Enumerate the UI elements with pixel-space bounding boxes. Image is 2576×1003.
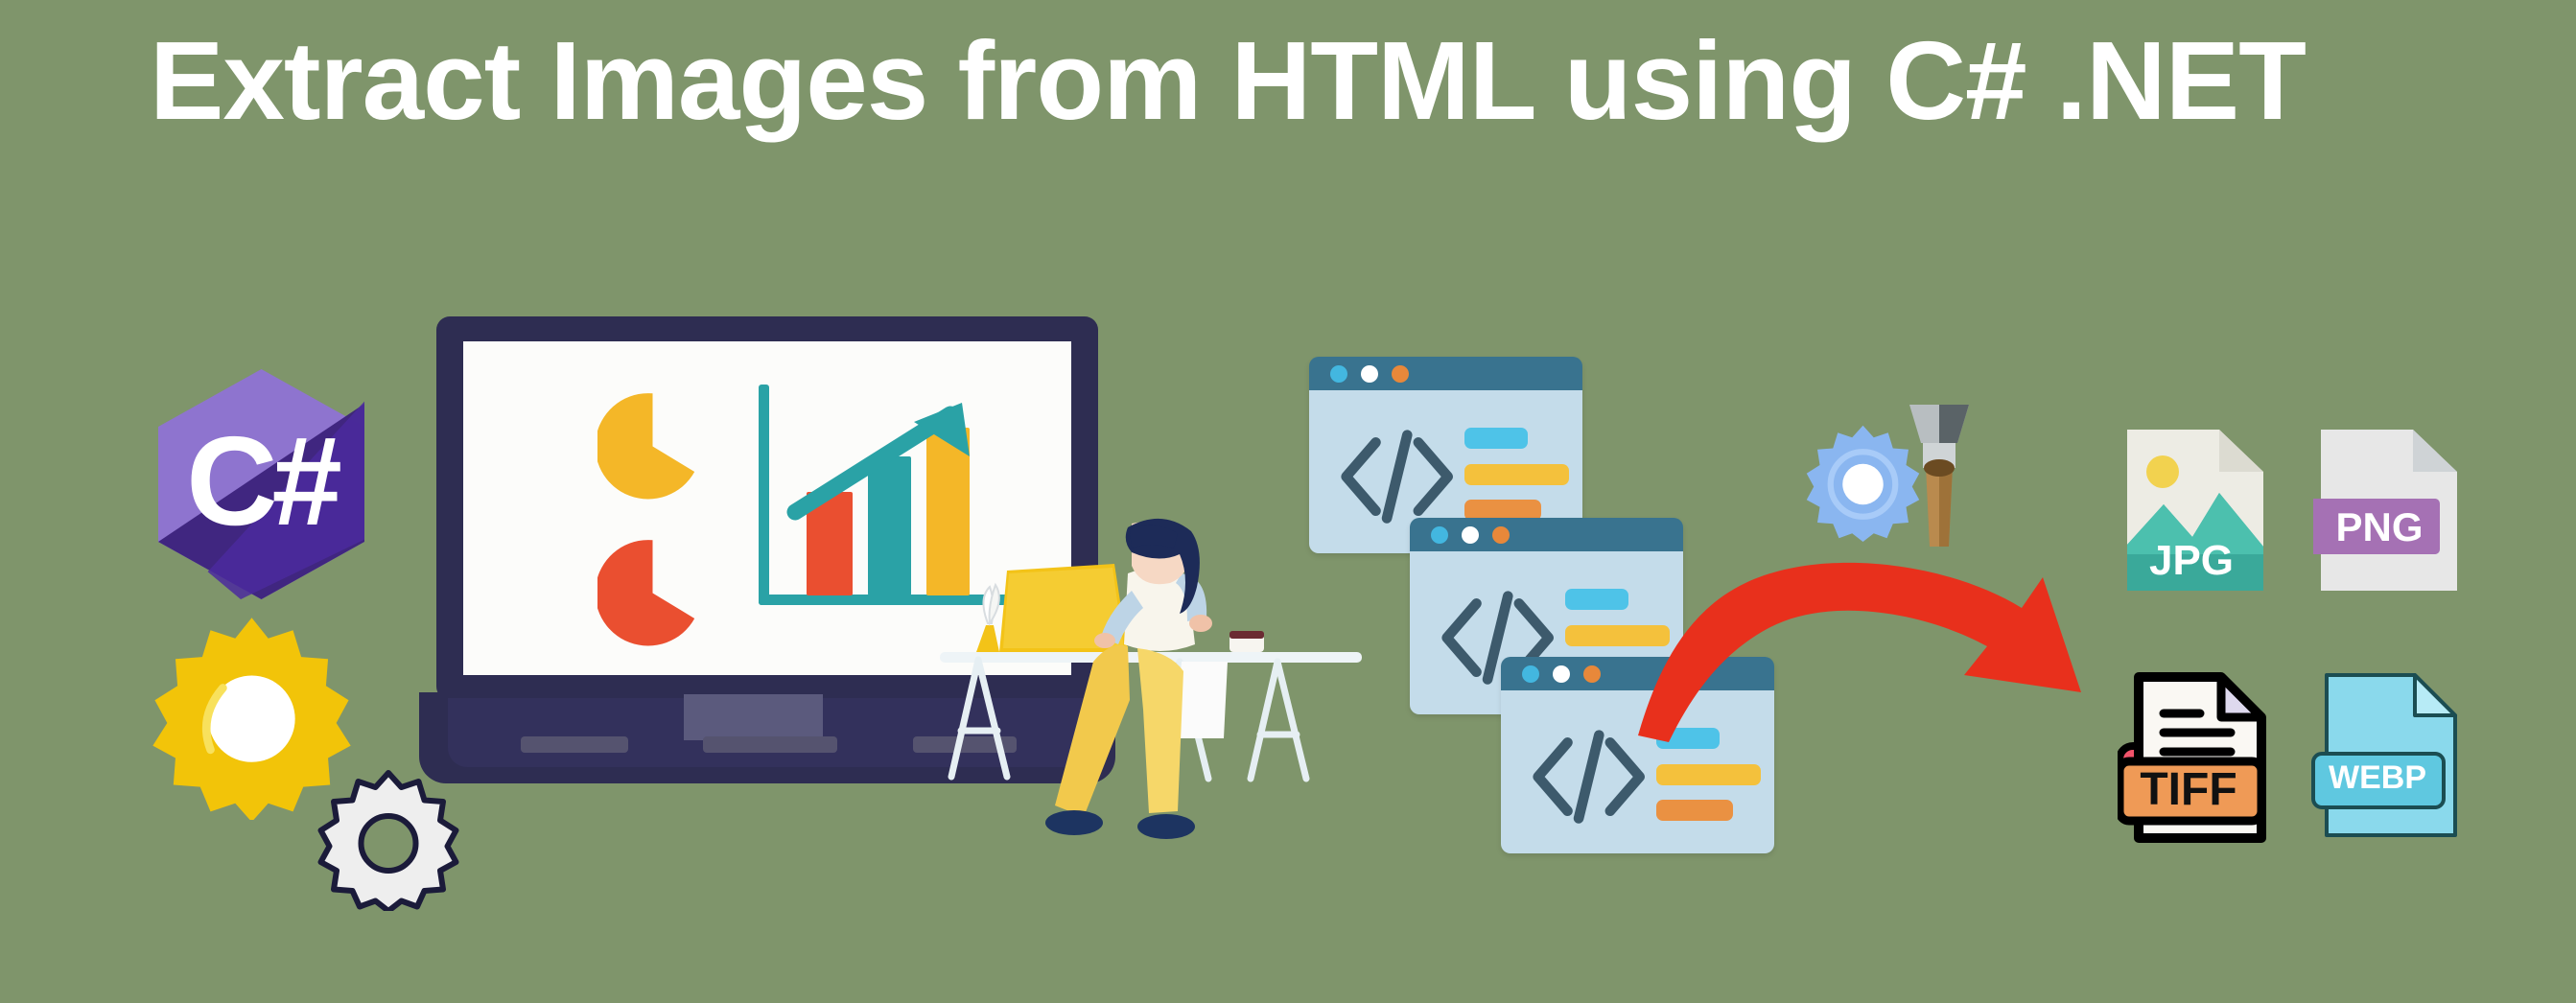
webp-file-label: WEBP bbox=[2313, 759, 2442, 797]
white-gear-icon bbox=[316, 767, 460, 911]
chart-y-axis bbox=[759, 385, 769, 605]
code-line-cyan bbox=[1565, 589, 1628, 610]
jpg-file-label: JPG bbox=[2119, 537, 2263, 585]
laptop-slot bbox=[703, 736, 837, 753]
window-dot-orange-icon bbox=[1392, 365, 1409, 383]
red-curved-arrow-icon bbox=[1630, 539, 2167, 745]
window-dot-white-icon bbox=[1361, 365, 1378, 383]
csharp-logo: C# bbox=[158, 369, 364, 599]
window-dot-white-icon bbox=[1553, 665, 1570, 683]
code-tag-icon bbox=[1337, 426, 1457, 510]
window-dot-orange-icon bbox=[1492, 526, 1510, 544]
illustration-canvas: Extract Images from HTML using C# .NET C… bbox=[0, 0, 2576, 1003]
code-line-yellow bbox=[1656, 764, 1760, 785]
window-dot-cyan-icon bbox=[1431, 526, 1448, 544]
code-line-yellow bbox=[1464, 464, 1568, 485]
woman-at-desk-illustration bbox=[940, 518, 1381, 921]
window-dot-orange-icon bbox=[1583, 665, 1601, 683]
page-title: Extract Images from HTML using C# .NET bbox=[0, 21, 2455, 140]
webp-file-icon[interactable]: WEBP bbox=[2311, 671, 2460, 839]
window-dot-cyan-icon bbox=[1522, 665, 1539, 683]
window-dot-cyan-icon bbox=[1330, 365, 1347, 383]
window-dot-white-icon bbox=[1462, 526, 1479, 544]
pie-chart-red bbox=[597, 538, 708, 648]
laptop-slot bbox=[521, 736, 628, 753]
code-window-titlebar bbox=[1309, 357, 1582, 390]
code-line-cyan bbox=[1464, 428, 1528, 449]
csharp-logo-label: C# bbox=[158, 369, 364, 599]
pie-chart-yellow bbox=[597, 391, 708, 501]
tiff-file-icon[interactable]: TIFF bbox=[2118, 671, 2276, 844]
png-file-label: PNG bbox=[2319, 504, 2440, 550]
jpg-file-icon[interactable]: JPG bbox=[2119, 430, 2263, 591]
tiff-file-label: TIFF bbox=[2114, 763, 2263, 816]
png-file-icon[interactable]: PNG bbox=[2313, 430, 2457, 591]
laptop-trackpad bbox=[684, 694, 823, 740]
paint-brush-icon bbox=[1894, 401, 1985, 554]
code-line-orange bbox=[1656, 800, 1733, 821]
upward-trend-arrow-icon bbox=[782, 387, 988, 526]
